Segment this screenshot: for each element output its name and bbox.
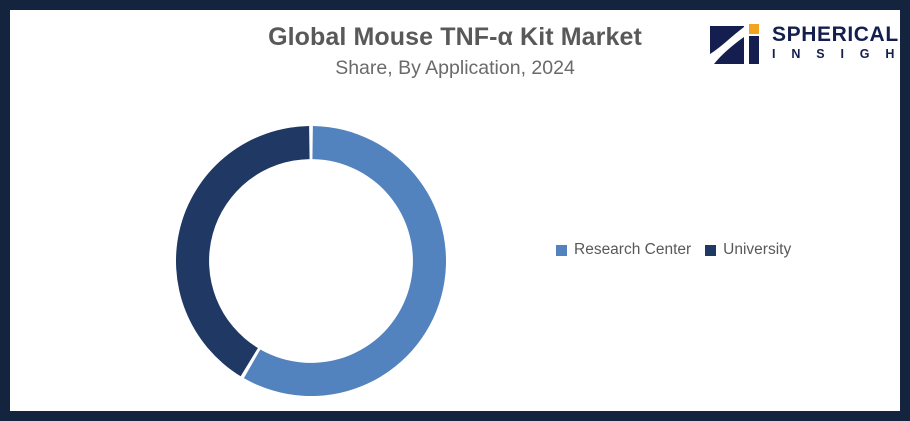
donut-chart-svg <box>166 116 456 406</box>
logo-secondary-text: I N S I G H T S <box>772 46 892 62</box>
legend-swatch-icon <box>556 245 567 256</box>
legend-swatch-icon <box>705 245 716 256</box>
legend-label: University <box>723 241 791 259</box>
chart-legend: Research Center University <box>556 241 791 259</box>
legend-item-university[interactable]: University <box>705 241 791 259</box>
donut-slice-group <box>176 126 446 396</box>
chart-card: Global Mouse TNF-α Kit Market Share, By … <box>0 0 910 421</box>
logo-primary-text: SPHERICAL <box>772 23 892 46</box>
legend-label: Research Center <box>574 241 691 259</box>
donut-chart <box>166 116 456 406</box>
spherical-insights-logo-icon <box>710 24 766 66</box>
brand-logo: SPHERICAL I N S I G H T S <box>700 18 895 72</box>
donut-slice[interactable] <box>244 126 446 396</box>
logo-wordmark: SPHERICAL I N S I G H T S <box>772 23 892 62</box>
legend-item-research-center[interactable]: Research Center <box>556 241 691 259</box>
donut-slice[interactable] <box>176 126 310 376</box>
